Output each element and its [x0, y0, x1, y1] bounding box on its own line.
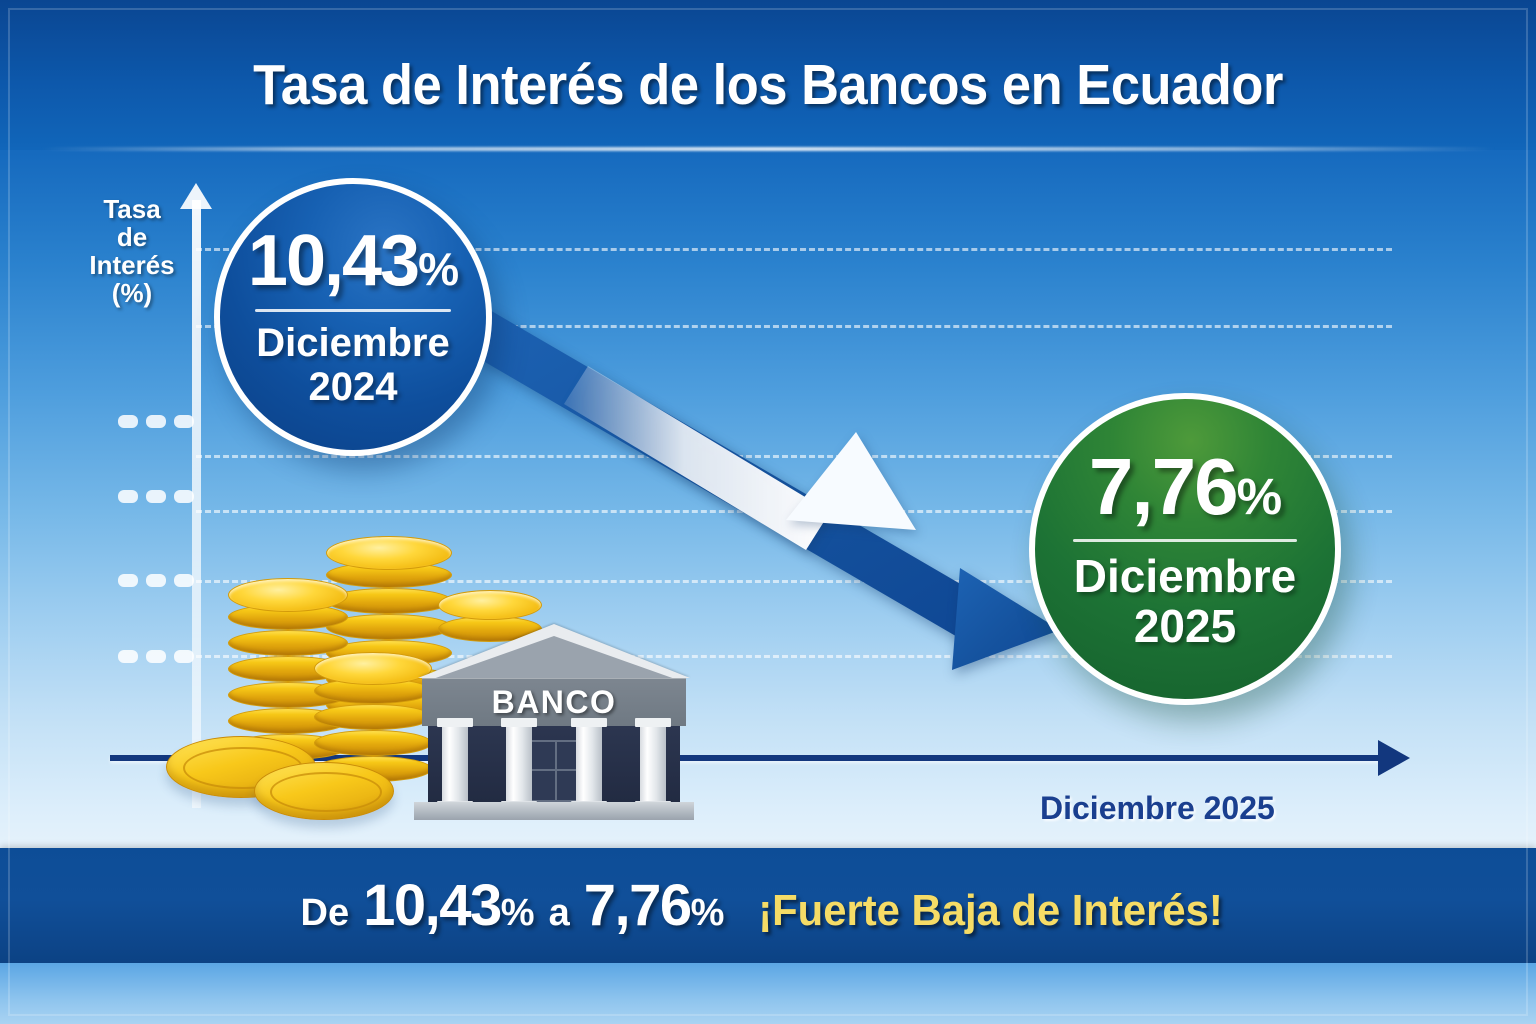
bank-building-icon: BANCO — [418, 624, 690, 820]
infographic-root: Tasa de Interés de los Bancos en Ecuador… — [0, 0, 1536, 1024]
bubble-divider — [255, 309, 451, 312]
flat-coin — [254, 762, 394, 820]
bank-base — [414, 802, 694, 820]
banner-from-percent: % — [501, 892, 535, 935]
bubble-caption-year: 2025 — [1074, 602, 1296, 652]
bank-pediment — [430, 636, 678, 680]
banner-prefix: De — [301, 892, 350, 935]
bank-column — [442, 724, 468, 804]
bubble-value-2024: 10,43% — [248, 225, 458, 297]
bank-column — [506, 724, 532, 804]
bank-column — [640, 724, 666, 804]
bubble-caption-2024: Diciembre 2024 — [256, 322, 449, 408]
banner-to-value: 7,76 — [584, 872, 691, 939]
white-trend-arrow-icon — [564, 366, 916, 550]
data-bubble-december-2024[interactable]: 10,43% Diciembre 2024 — [214, 178, 492, 456]
summary-banner: De 10,43 % a 7,76 % ¡Fuerte Baja de Inte… — [0, 848, 1536, 963]
banner-to-percent: % — [691, 892, 725, 935]
bubble-caption-2025: Diciembre 2025 — [1074, 552, 1296, 651]
page-title: Tasa de Interés de los Bancos en Ecuador — [61, 52, 1474, 118]
chart-plot-area: Tasa de Interés (%) Diciembre 2025 — [0, 150, 1536, 848]
bubble-caption-year: 2024 — [256, 366, 449, 409]
coins-and-bank-illustration: BANCO — [150, 530, 710, 820]
bubble-caption-month: Diciembre — [256, 322, 449, 365]
data-bubble-december-2025[interactable]: 7,76% Diciembre 2025 — [1029, 393, 1341, 705]
bubble-caption-month: Diciembre — [1074, 552, 1296, 602]
banner-connector: a — [549, 892, 570, 935]
banner-highlight: ¡Fuerte Baja de Interés! — [759, 886, 1224, 936]
bank-column — [576, 724, 602, 804]
footer-strip — [0, 963, 1536, 1024]
bubble-value-2025: 7,76% — [1089, 447, 1281, 527]
bubble-divider — [1073, 539, 1297, 542]
banner-from-value: 10,43 — [363, 872, 501, 939]
bank-label: BANCO — [492, 684, 617, 721]
